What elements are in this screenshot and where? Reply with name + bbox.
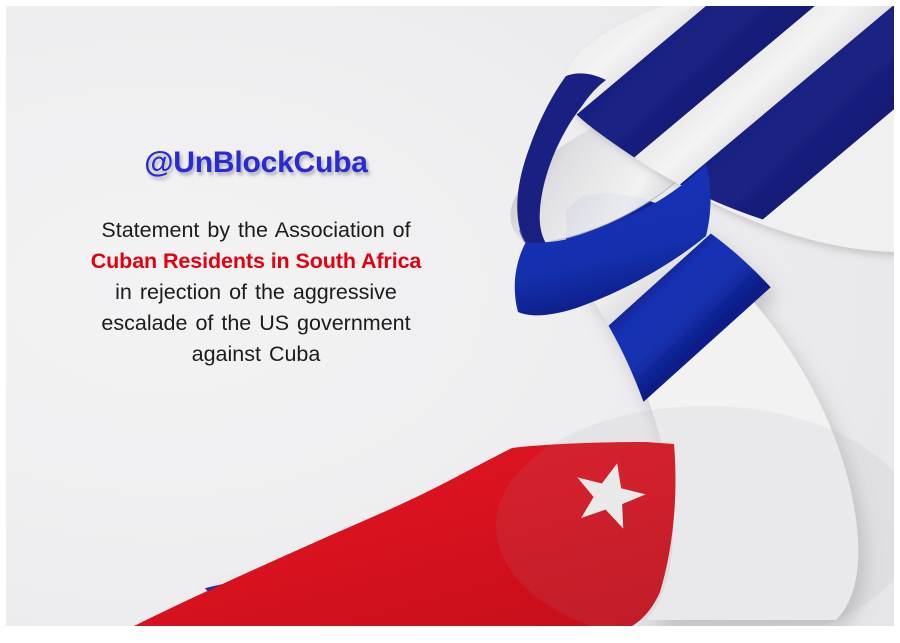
poster-canvas: @UnBlockCuba Statement by the Associatio… — [6, 6, 894, 626]
statement-org-name: Cuban Residents in South Africa — [36, 246, 476, 277]
statement-line-4: escalade of the US government — [36, 308, 476, 339]
ribbon-ground-shadow — [496, 406, 894, 626]
statement-line-5: against Cuba — [36, 339, 476, 370]
statement-line-3: in rejection of the aggressive — [36, 277, 476, 308]
text-block: @UnBlockCuba Statement by the Associatio… — [36, 146, 476, 370]
handle-label: @UnBlockCuba — [36, 146, 476, 179]
statement-paragraph: Statement by the Association of Cuban Re… — [36, 215, 476, 370]
statement-line-1: Statement by the Association of — [36, 215, 476, 246]
poster-root: @UnBlockCuba Statement by the Associatio… — [0, 0, 900, 643]
